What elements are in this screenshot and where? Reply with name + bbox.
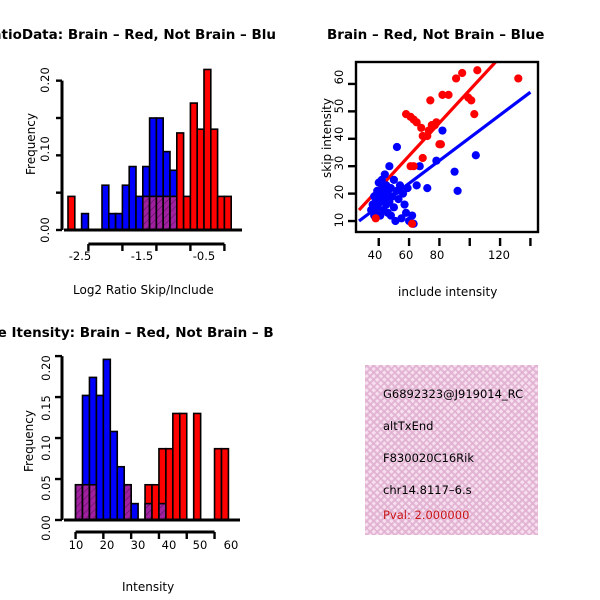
histogram-bar (122, 185, 129, 230)
histogram-bar (180, 413, 187, 520)
histogram-bar (166, 449, 173, 520)
scatter-point (450, 168, 458, 176)
scatter-point (396, 181, 404, 189)
histogram-bar (109, 214, 116, 230)
scatter-point (385, 162, 393, 170)
histogram-bar (184, 196, 191, 230)
scatter-point (514, 74, 522, 82)
scatter-point (393, 143, 401, 151)
scatter-point (438, 126, 446, 134)
histogram-bar (129, 167, 136, 230)
scatter-point (432, 157, 440, 165)
scatter-point (413, 181, 421, 189)
scatter-point (390, 176, 398, 184)
histogram-bar (136, 196, 143, 230)
scatter-point (408, 211, 416, 219)
histogram-bar-overlap (143, 196, 150, 230)
histogram-bar-overlap (145, 504, 152, 520)
histogram-bar-overlap (150, 196, 157, 230)
histogram-bar (224, 196, 231, 230)
scatter-point (390, 203, 398, 211)
histogram-bar-overlap (156, 196, 163, 230)
histogram-bar-overlap (159, 504, 166, 520)
histogram-bar (152, 485, 159, 520)
histogram-bar (211, 129, 218, 230)
scatter-point (381, 170, 389, 178)
scatter-point (458, 69, 466, 77)
histogram-bar (82, 214, 89, 230)
intensity-scatter-panel: Brain – Red, Not Brain – Blue skip inten… (300, 0, 600, 300)
gene-intensity-histogram-plot (0, 300, 300, 600)
scatter-point (473, 66, 481, 74)
histogram-bar (177, 133, 184, 230)
histogram-bar (102, 185, 109, 230)
gene-bars-group (76, 359, 229, 520)
scatter-points-group (359, 62, 530, 228)
histogram-bar (110, 431, 117, 520)
scatter-point (470, 110, 478, 118)
intensity-scatter-plot (300, 0, 600, 300)
scatter-point (410, 162, 418, 170)
scatter-point (432, 118, 440, 126)
ratio-histogram-panel: RatioData: Brain – Red, Not Brain – Blu … (0, 0, 300, 300)
histogram-bar (131, 504, 138, 520)
histogram-bar (215, 449, 222, 520)
histogram-bar (221, 449, 228, 520)
info-line-event: altTxEnd (383, 419, 433, 433)
histogram-bar (103, 359, 110, 520)
histogram-bar (116, 214, 123, 230)
scatter-point (419, 154, 427, 162)
histogram-bar (190, 103, 197, 230)
scatter-point (444, 91, 452, 99)
histogram-bar (218, 196, 225, 230)
ratio-histogram-plot (0, 0, 300, 300)
ratio-bars-group (68, 69, 231, 230)
histogram-bar-overlap (83, 485, 90, 520)
histogram-bar (194, 413, 201, 520)
scatter-point (452, 74, 460, 82)
gene-info-panel: G6892323@J919014_RC altTxEnd F830020C16R… (365, 365, 538, 535)
histogram-bar (117, 467, 124, 520)
info-line-locus: chr14.8117–6.s (383, 483, 472, 497)
histogram-bar (68, 196, 75, 230)
scatter-point (403, 184, 411, 192)
histogram-bar-overlap (163, 196, 170, 230)
gene-intensity-histogram-panel: ne Itensity: Brain – Red, Not Brain – B … (0, 300, 300, 600)
info-line-pval: Pval: 2.000000 (383, 508, 469, 522)
histogram-bar-overlap (124, 485, 131, 520)
histogram-bar (204, 69, 211, 230)
histogram-bar-overlap (89, 485, 96, 520)
histogram-bar (96, 395, 103, 520)
scatter-point (472, 151, 480, 159)
scatter-point (417, 124, 425, 132)
scatter-point (426, 96, 434, 104)
info-line-gene: F830020C16Rik (383, 451, 474, 465)
scatter-point (372, 214, 380, 222)
scatter-point (408, 220, 416, 228)
histogram-bar-overlap (170, 196, 177, 230)
scatter-point (454, 187, 462, 195)
histogram-bar (197, 129, 204, 230)
scatter-point (467, 96, 475, 104)
scatter-point (423, 184, 431, 192)
info-line-probe: G6892323@J919014_RC (383, 387, 523, 401)
scatter-point (400, 200, 408, 208)
scatter-point (437, 140, 445, 148)
histogram-bar (173, 413, 180, 520)
histogram-bar-overlap (76, 485, 83, 520)
